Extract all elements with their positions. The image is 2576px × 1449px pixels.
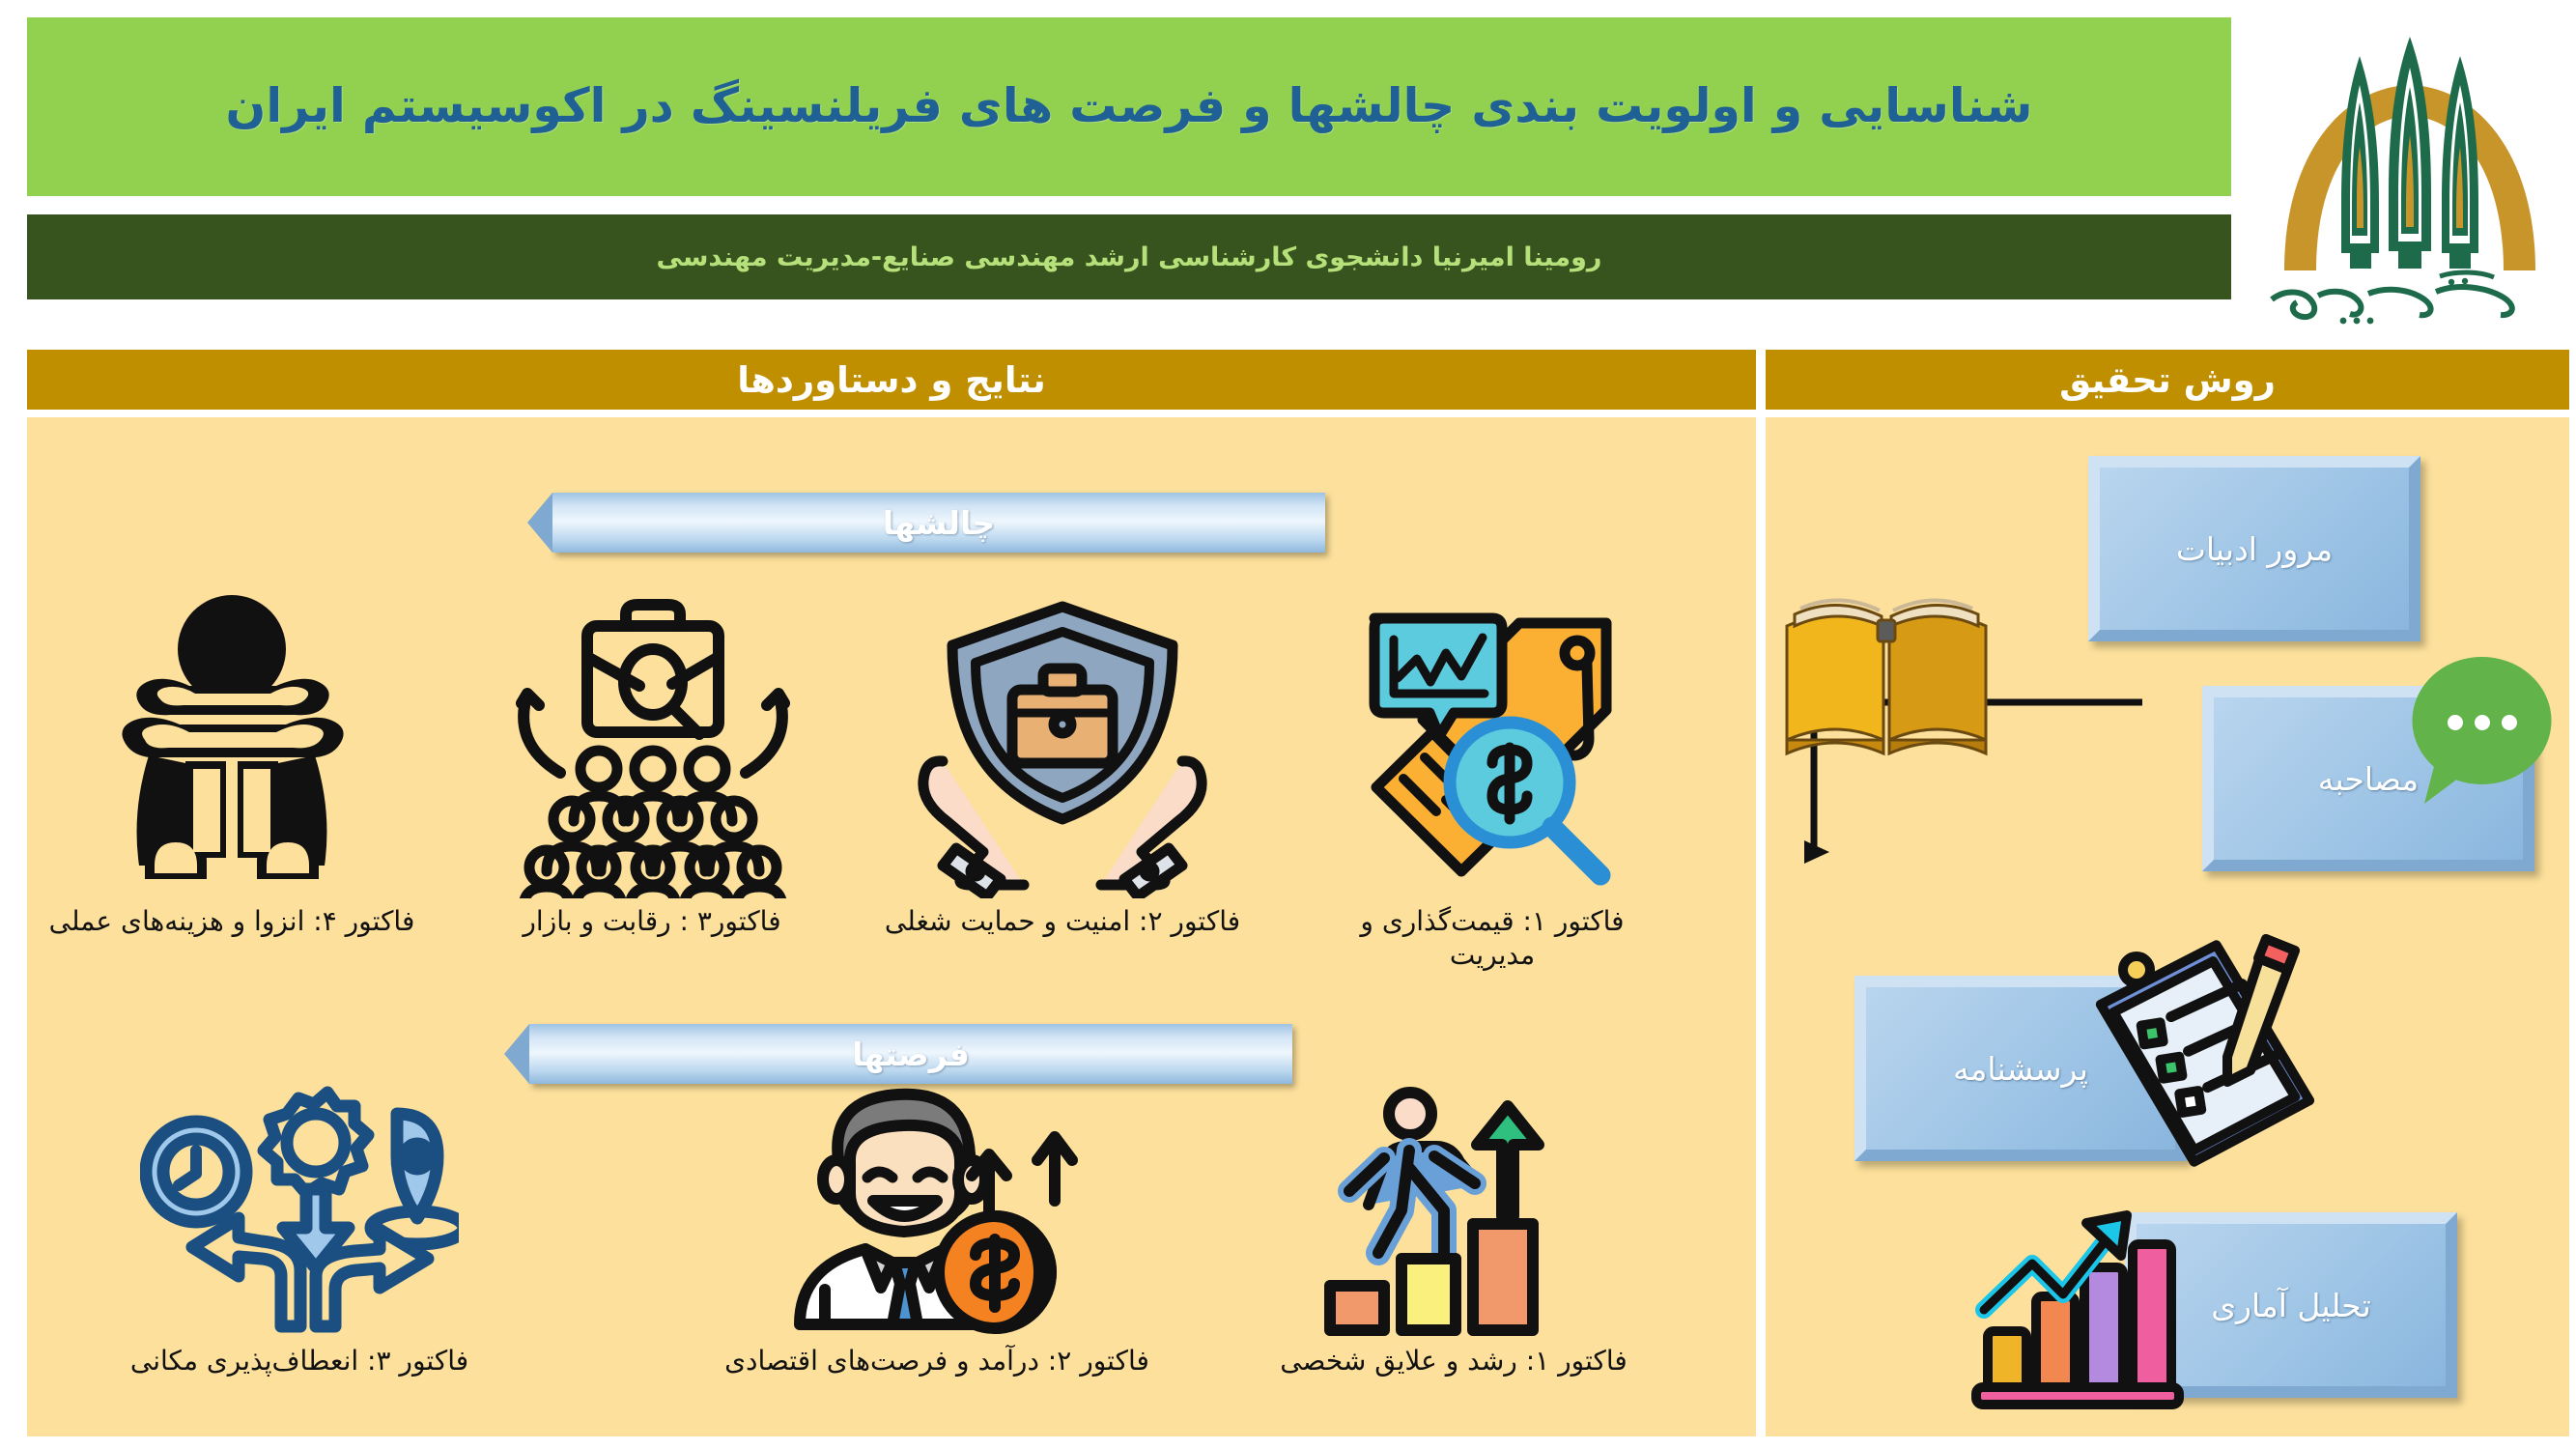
flow-label-statistical-analysis: تحلیل آماری (2211, 1287, 2371, 1324)
section-header-method: روش تحقیق (1766, 350, 2569, 410)
speech-bubble-icon (2395, 647, 2569, 821)
income-economic-icon (773, 1077, 1101, 1338)
personal-growth-icon (1309, 1087, 1599, 1338)
challenge-label-pricing: فاکتور ۱: قیمت‌گذاری و مدیریت (1314, 904, 1671, 972)
competition-market-icon (493, 589, 811, 898)
section-title-results: نتایج و دستاوردها (737, 359, 1045, 401)
challenge-item-competition: فاکتور۳ : رقابت و بازار (464, 565, 840, 938)
author-banner: رومینا امیرنیا دانشجوی کارشناسی ارشد مهن… (27, 214, 2231, 299)
author-name: رومینا امیرنیا دانشجوی کارشناسی ارشد مهن… (657, 242, 1602, 272)
location-flexibility-icon (140, 1067, 459, 1338)
challenge-item-isolation: فاکتور ۴: انزوا و هزینه‌های عملی (29, 565, 435, 938)
flow-step-literature-review[interactable]: مرور ادبیات (2088, 456, 2420, 641)
opportunity-item-flexibility: فاکتور ۳: انعطاف‌پذیری مکانی (77, 1067, 522, 1378)
pricing-management-icon (1347, 589, 1637, 898)
challenge-item-security: فاکتور ۲: امنیت و حمایت شغلی (869, 565, 1256, 938)
job-security-shield-icon (908, 589, 1217, 898)
flow-label-literature-review: مرور ادبیات (2176, 530, 2333, 568)
page-title: شناسایی و اولویت بندی چالشها و فرصت های … (212, 76, 2047, 137)
challenges-banner: چالشها (552, 493, 1325, 553)
title-banner: شناسایی و اولویت بندی چالشها و فرصت های … (27, 17, 2231, 196)
poster-root: شناسایی و اولویت بندی چالشها و فرصت های … (0, 0, 2576, 1449)
challenges-banner-label: چالشها (883, 504, 995, 542)
opportunities-banner-label: فرصتها (852, 1036, 970, 1073)
opportunity-item-income: فاکتور ۲: درآمد و فرصت‌های اقتصادی (724, 1077, 1149, 1378)
challenge-item-pricing: فاکتور ۱: قیمت‌گذاری و مدیریت (1314, 565, 1671, 972)
bar-chart-arrow-icon (1961, 1188, 2202, 1410)
open-book-icon (1775, 570, 2007, 763)
opportunity-label-flexibility: فاکتور ۳: انعطاف‌پذیری مکانی (77, 1344, 522, 1378)
tarbiat-modares-logo-icon (2250, 10, 2569, 328)
flow-label-questionnaire: پرسشنامه (1953, 1050, 2088, 1088)
section-header-results: نتایج و دستاوردها (27, 350, 1756, 410)
opportunity-label-income: فاکتور ۲: درآمد و فرصت‌های اقتصادی (724, 1344, 1149, 1378)
isolation-person-icon (97, 589, 367, 898)
challenge-label-security: فاکتور ۲: امنیت و حمایت شغلی (869, 904, 1256, 938)
challenge-label-isolation: فاکتور ۴: انزوا و هزینه‌های عملی (29, 904, 435, 938)
opportunity-label-growth: فاکتور ۱: رشد و علایق شخصی (1256, 1344, 1652, 1378)
university-logo (2250, 10, 2569, 328)
opportunity-item-growth: فاکتور ۱: رشد و علایق شخصی (1256, 1087, 1652, 1378)
clipboard-pencil-icon (2077, 927, 2328, 1169)
opportunities-banner: فرصتها (529, 1024, 1292, 1084)
section-title-method: روش تحقیق (2059, 359, 2276, 401)
challenge-label-competition: فاکتور۳ : رقابت و بازار (464, 904, 840, 938)
